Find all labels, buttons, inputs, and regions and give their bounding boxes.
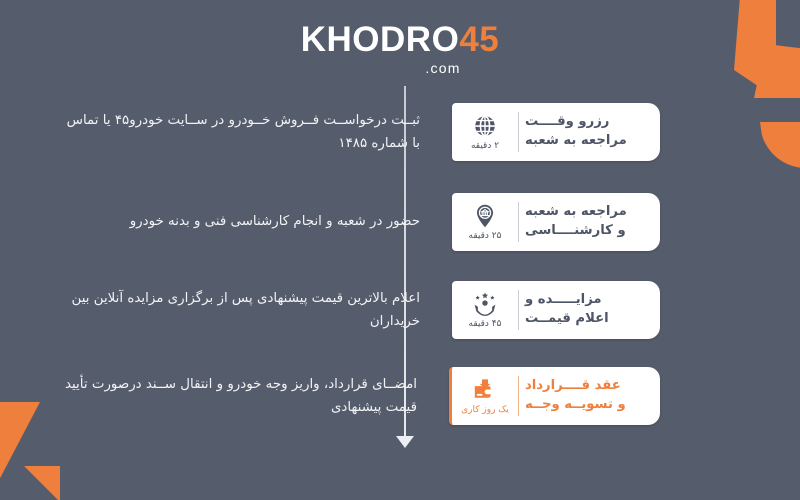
timeline-step-2: حضور در شعبه و انجام کارشناسی فنی و بدنه…: [60, 186, 660, 258]
step-meta: ۴۵ دقیقه: [452, 281, 518, 339]
brand-logo: KHODRO45 .com: [0, 22, 800, 75]
step-meta: ۲ دقیقه: [452, 103, 518, 161]
step-title-line-2: و کارشنــــاسی: [525, 222, 626, 241]
wallet-deposit-icon: [472, 377, 498, 403]
step-number-badge: ۲: [622, 194, 666, 238]
step-title-line-2: و تسویــه وجــه: [525, 396, 626, 415]
step-number-badge: ۳: [622, 282, 666, 326]
right-pie-wedge-decoration: [760, 122, 800, 168]
step-number-badge: ۱: [622, 104, 666, 148]
step-duration: ۴۵ دقیقه: [469, 319, 502, 329]
card-divider: [518, 290, 519, 330]
step-title-line-1: مزایـــــده و: [525, 291, 602, 310]
card-divider: [518, 202, 519, 242]
infographic-canvas: KHODRO45 .com ثبــت درخواســت فــروش خــ…: [0, 0, 800, 500]
step-title-line-1: عقد قــــرارداد: [525, 377, 621, 396]
timeline-step-4: امضــای قرارداد، واریز وجه خودرو و انتقا…: [60, 360, 660, 432]
step-duration: ۲ دقیقه: [471, 141, 499, 151]
auction-winner-icon: [472, 291, 498, 317]
timeline-step-1: ثبــت درخواســت فــروش خــودرو در ســایت…: [60, 96, 660, 168]
step-duration: یک روز کاری: [461, 405, 509, 415]
step-title-line-2: اعلام قیمــت: [525, 310, 609, 329]
step-description: ثبــت درخواســت فــروش خــودرو در ســایت…: [60, 109, 442, 156]
timeline-arrow-icon: [396, 436, 414, 448]
step-description: اعلام بالاترین قیمت پیشنهادی پس از برگزا…: [60, 287, 442, 334]
step-title-line-1: مراجعه به شعبه: [525, 203, 627, 222]
step-number-badge: ۴: [622, 368, 666, 412]
bottom-left-small-triangle-decoration: [24, 466, 60, 500]
step-title-line-1: رزرو وقــــت: [525, 113, 609, 132]
map-pin-bank-icon: [472, 203, 498, 229]
step-description: حضور در شعبه و انجام کارشناسی فنی و بدنه…: [60, 210, 442, 233]
step-meta: یک روز کاری: [452, 367, 518, 425]
step-description: امضــای قرارداد، واریز وجه خودرو و انتقا…: [60, 373, 439, 420]
brand-name-accent: 45: [459, 20, 499, 59]
timeline-step-3: اعلام بالاترین قیمت پیشنهادی پس از برگزا…: [60, 274, 660, 346]
step-duration: ۲۵ دقیقه: [469, 231, 502, 241]
brand-tld: .com: [0, 61, 800, 75]
step-title-line-2: مراجعه به شعبه: [525, 132, 627, 151]
card-divider: [518, 376, 519, 416]
globe-icon: [472, 113, 498, 139]
brand-wordmark: KHODRO45: [0, 22, 800, 57]
card-divider: [518, 112, 519, 152]
step-meta: ۲۵ دقیقه: [452, 193, 518, 251]
brand-name-main: KHODRO: [301, 20, 460, 59]
